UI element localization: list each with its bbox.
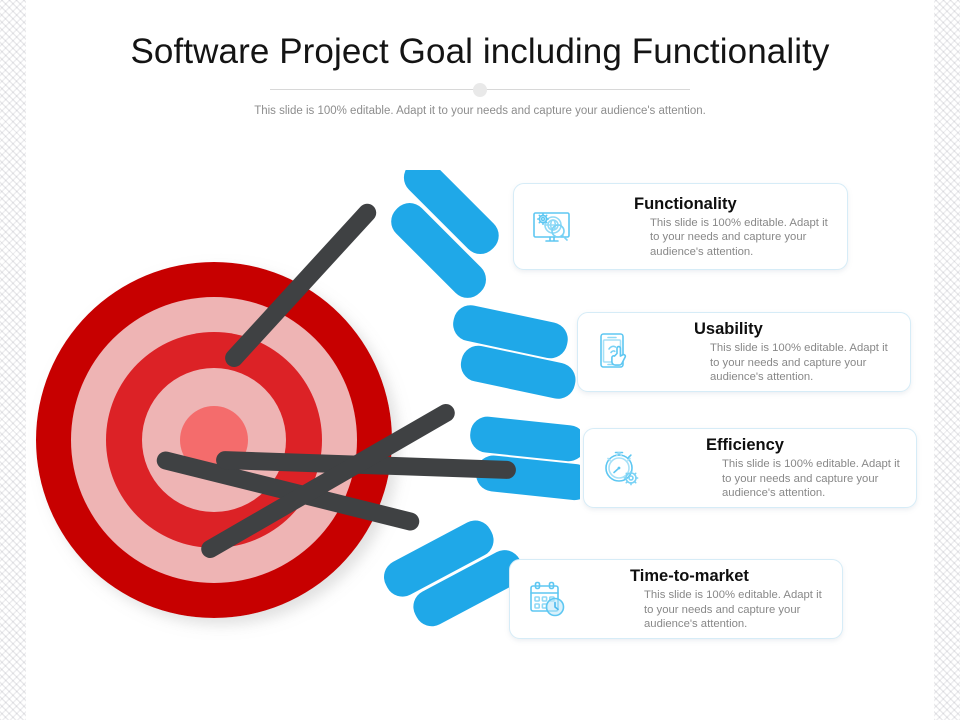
page-subtitle: This slide is 100% editable. Adapt it to…	[0, 104, 960, 118]
card-body: Efficiency This slide is 100% editable. …	[654, 435, 916, 501]
card-functionality[interactable]: Functionality This slide is 100% editabl…	[513, 183, 848, 270]
card-body: Usability This slide is 100% editable. A…	[648, 319, 910, 385]
card-usability[interactable]: Usability This slide is 100% editable. A…	[577, 312, 911, 392]
slide-header: Software Project Goal including Function…	[0, 30, 960, 118]
target-with-arrows-illustration	[20, 170, 580, 640]
title-divider	[270, 83, 690, 97]
card-title: Efficiency	[706, 435, 904, 455]
card-title: Time-to-market	[630, 566, 830, 586]
card-body: Functionality This slide is 100% editabl…	[584, 194, 847, 260]
card-description: This slide is 100% editable. Adapt it to…	[644, 588, 830, 632]
stopwatch-gear-icon	[596, 442, 648, 494]
tablet-touch-hand-icon	[590, 326, 642, 378]
dartboard-target	[36, 262, 392, 618]
card-efficiency[interactable]: Efficiency This slide is 100% editable. …	[583, 428, 917, 508]
arrow-fletch-upper	[468, 415, 580, 463]
card-body: Time-to-market This slide is 100% editab…	[580, 566, 842, 632]
calendar-clock-icon	[522, 573, 574, 625]
card-title: Usability	[694, 319, 898, 339]
card-description: This slide is 100% editable. Adapt it to…	[710, 341, 898, 385]
card-description: This slide is 100% editable. Adapt it to…	[722, 457, 904, 501]
slide-canvas: Software Project Goal including Function…	[0, 0, 960, 720]
card-time-to-market[interactable]: Time-to-market This slide is 100% editab…	[509, 559, 843, 639]
page-title: Software Project Goal including Function…	[0, 30, 960, 74]
card-description: This slide is 100% editable. Adapt it to…	[650, 216, 835, 260]
divider-dot-icon	[473, 83, 487, 97]
monitor-gear-magnifier-icon	[526, 201, 578, 253]
card-title: Functionality	[634, 194, 835, 214]
